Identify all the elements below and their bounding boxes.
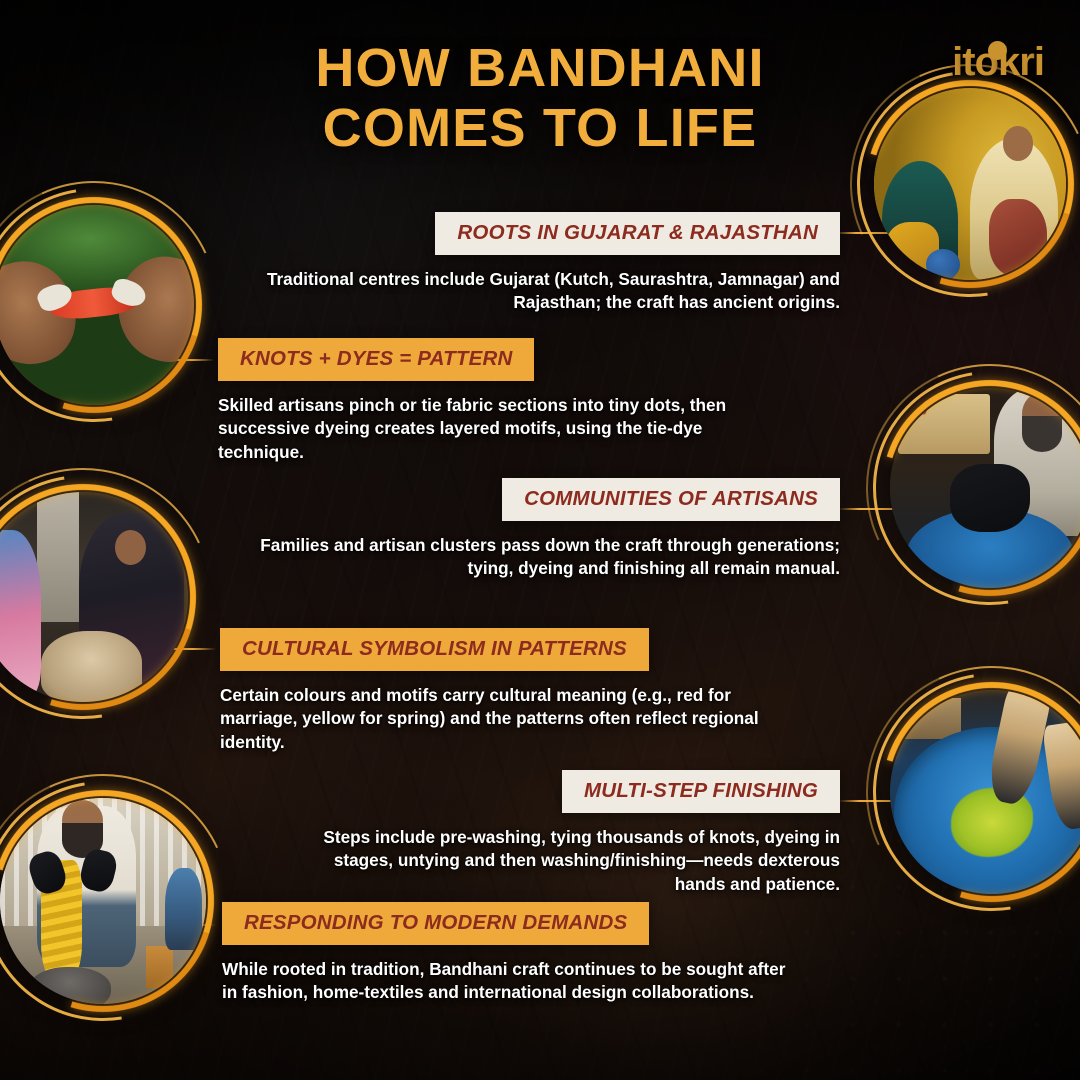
red-fabric (989, 199, 1047, 276)
section-body-knots-dyes: Skilled artisans pinch or tie fabric sec… (218, 394, 763, 464)
photo-hands-tying-red (0, 205, 194, 405)
section-modern-demands: RESPONDING TO MODERN DEMANDS While roote… (222, 902, 797, 1005)
wall-pillar (37, 492, 79, 622)
black-gloves (950, 464, 1030, 532)
section-symbolism: CULTURAL SYMBOLISM IN PATTERNS Certain c… (220, 628, 780, 754)
section-badge-knots-dyes[interactable]: KNOTS + DYES = PATTERN (218, 338, 534, 381)
beard-shape (1022, 416, 1062, 452)
photo-scene-dyer-blue-tub: y.y (890, 388, 1080, 588)
tied-fabric-bundle (41, 631, 142, 702)
face-shape (1003, 126, 1034, 161)
shelf-with-bottles (896, 698, 961, 739)
photo-scene-dyer-yellow-skein (0, 798, 206, 1004)
section-body-finishing: Steps include pre-washing, tying thousan… (300, 826, 840, 896)
section-body-modern-demands: While rooted in tradition, Bandhani craf… (222, 958, 797, 1005)
section-roots: ROOTS IN GUJARAT & RAJASTHAN Traditional… (250, 212, 840, 315)
logo-dot-mark (988, 41, 1007, 60)
infographic-poster: HOW BANDHANI COMES TO LIFE itokri (0, 0, 1080, 1080)
section-badge-finishing[interactable]: MULTI-STEP FINISHING (562, 770, 840, 813)
photo-two-women-tying (874, 88, 1066, 280)
photo-scene-two-women (874, 88, 1066, 280)
crate-label: y.y (910, 400, 930, 415)
section-finishing: MULTI-STEP FINISHING Steps include pre-w… (300, 770, 840, 896)
section-communities: COMMUNITIES OF ARTISANS Families and art… (240, 478, 840, 581)
section-knots-dyes: KNOTS + DYES = PATTERN Skilled artisans … (218, 338, 763, 464)
photo-scene-hands-tying (0, 205, 194, 405)
section-badge-symbolism[interactable]: CULTURAL SYMBOLISM IN PATTERNS (220, 628, 649, 671)
brand-logo-text: itokri (952, 40, 1044, 84)
section-body-roots: Traditional centres include Gujarat (Kut… (250, 268, 840, 315)
wooden-stool (146, 946, 173, 987)
section-badge-modern-demands[interactable]: RESPONDING TO MODERN DEMANDS (222, 902, 649, 945)
photo-scene-woman-seated (0, 492, 188, 702)
photo-dyer-blue-tub: y.y (890, 388, 1080, 588)
brand-logo-itokri[interactable]: itokri (952, 40, 1044, 85)
blue-bundle (926, 249, 961, 280)
photo-woman-seated (0, 492, 188, 702)
section-badge-communities[interactable]: COMMUNITIES OF ARTISANS (502, 478, 840, 521)
figure-seated-man (165, 868, 202, 950)
photo-dyer-yellow-skein (0, 798, 206, 1004)
figure-woman-pink (0, 530, 41, 698)
section-body-communities: Families and artisan clusters pass down … (240, 534, 840, 581)
section-badge-roots[interactable]: ROOTS IN GUJARAT & RAJASTHAN (435, 212, 840, 255)
dye-pot (29, 967, 111, 1004)
section-body-symbolism: Certain colours and motifs carry cultura… (220, 684, 780, 754)
photo-scene-blue-dye-vat (890, 690, 1080, 894)
photo-blue-dye-vat (890, 690, 1080, 894)
